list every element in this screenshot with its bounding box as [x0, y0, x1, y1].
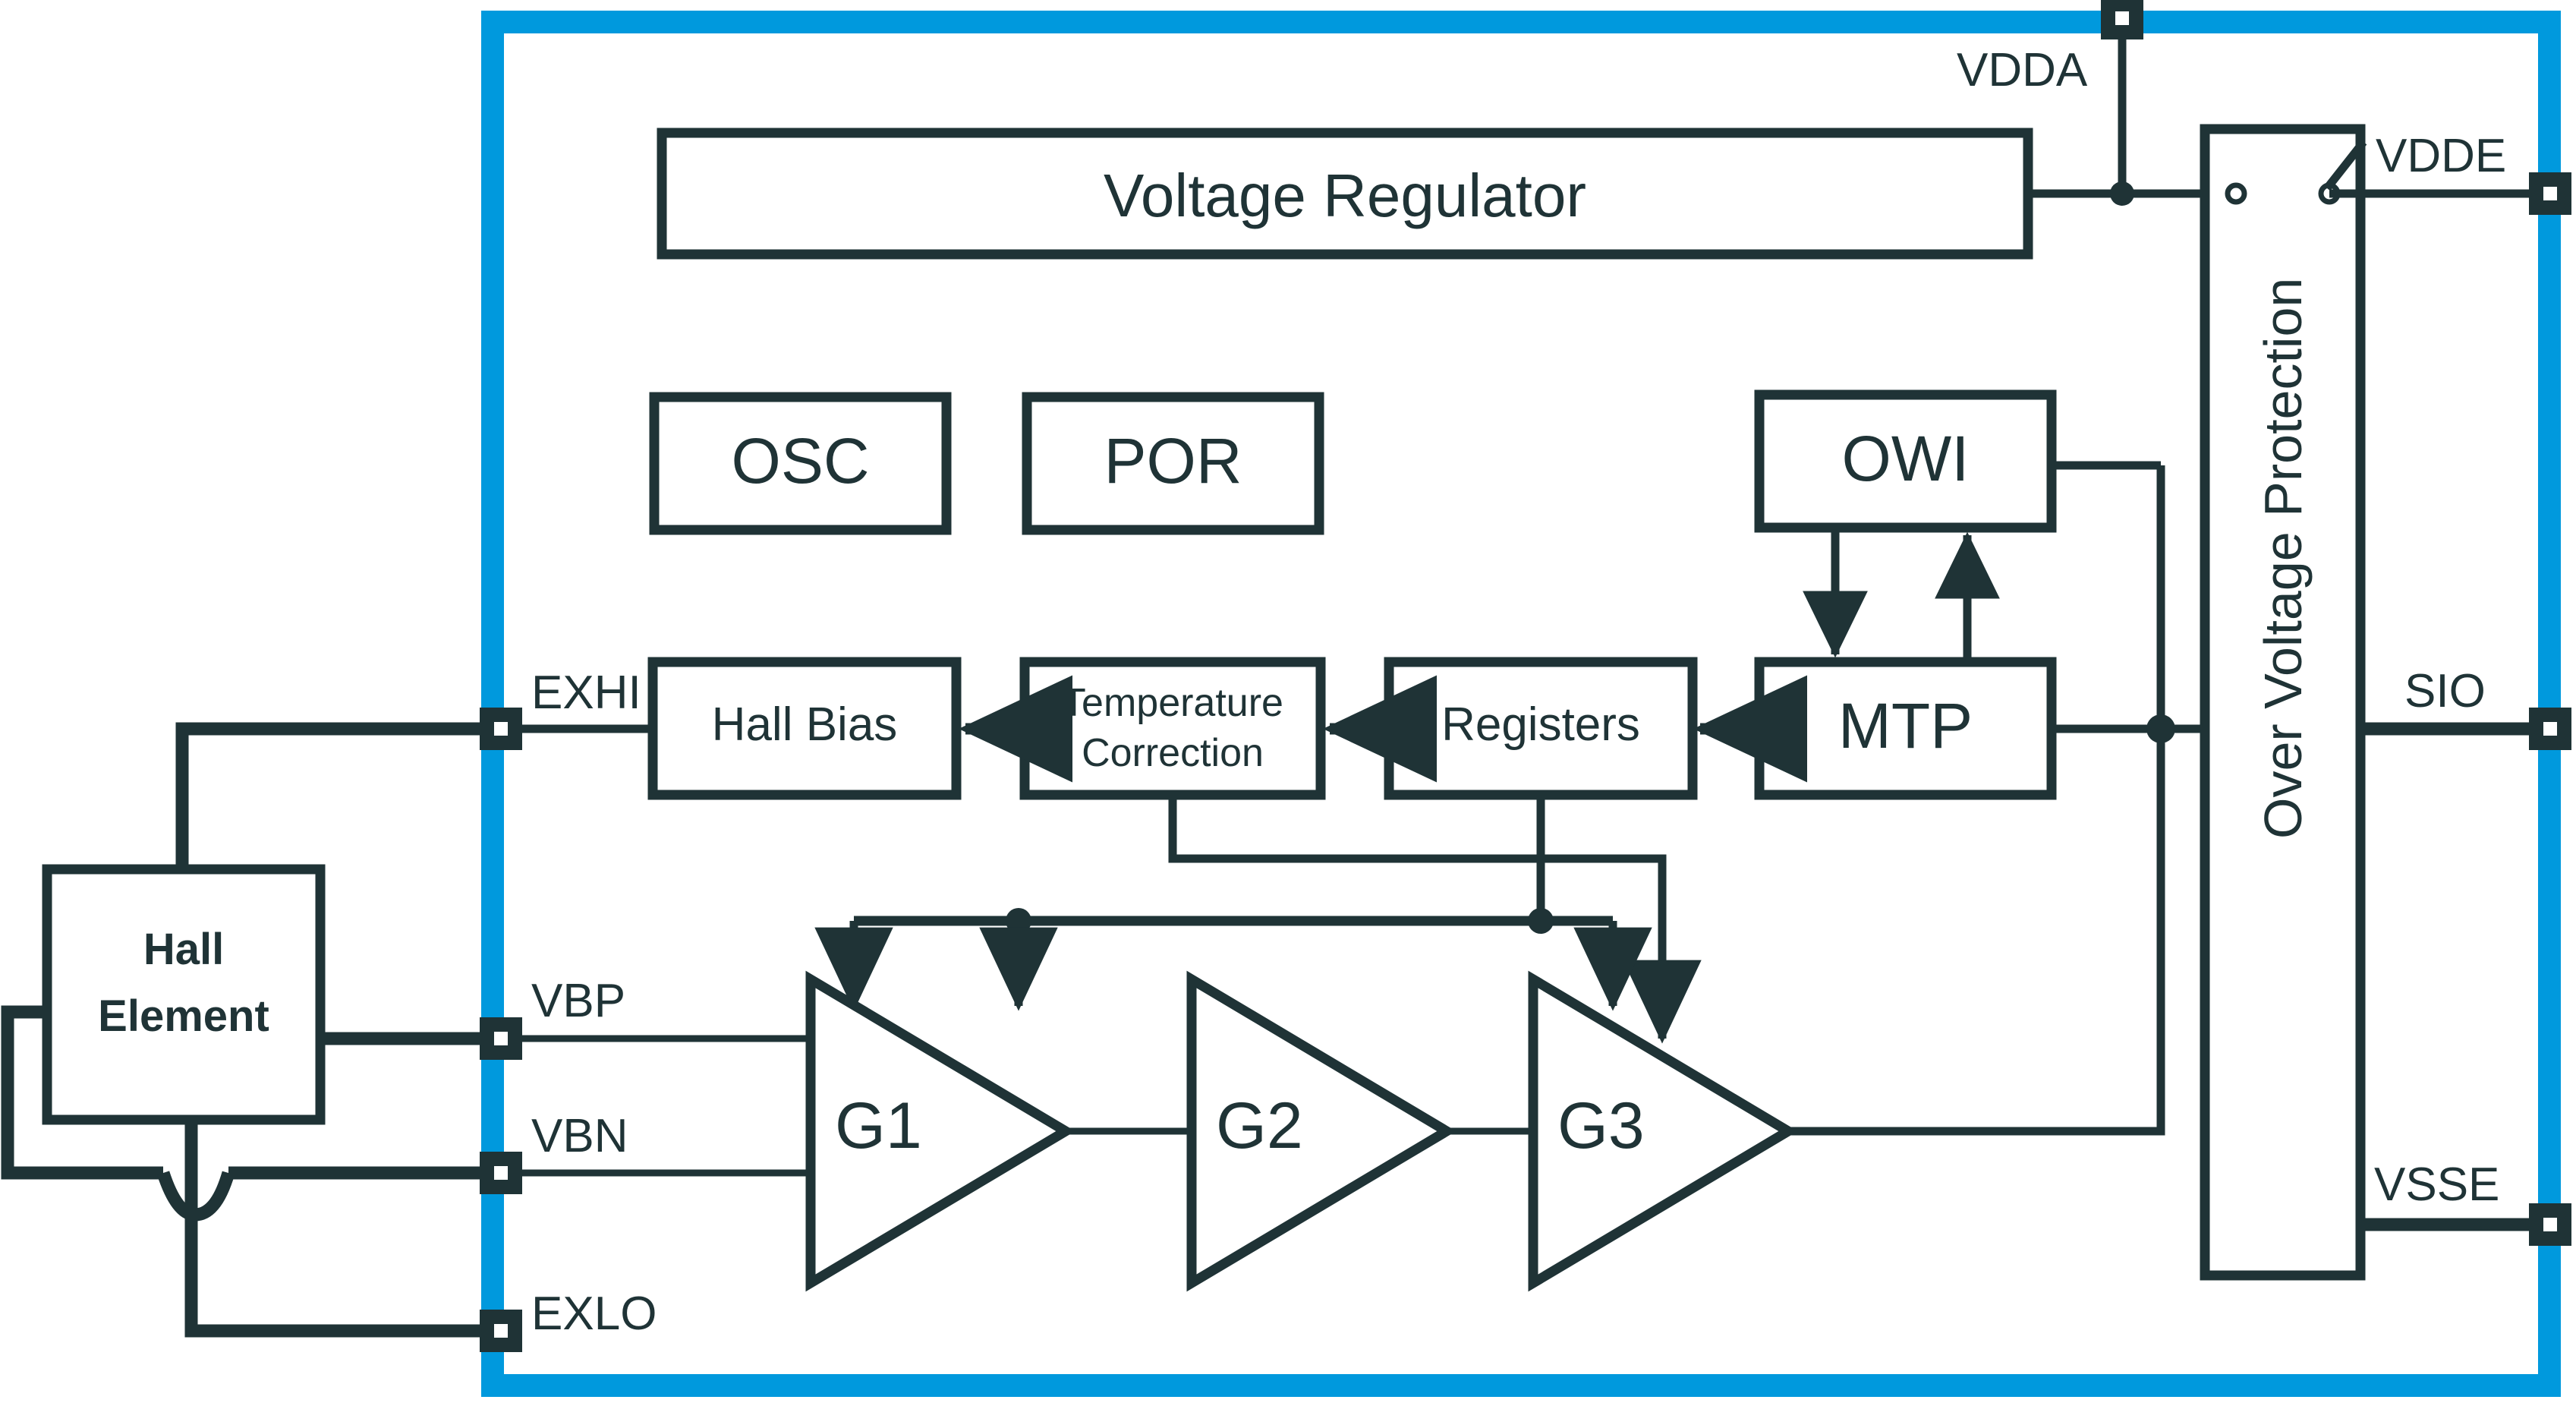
hall-element-label-line2: Element — [47, 995, 320, 1039]
temperature-correction-label-line1: Temperature — [1025, 683, 1321, 723]
junction-dot-g3-tap — [1528, 908, 1554, 934]
mtp-label: MTP — [1759, 694, 2052, 758]
temperature-correction-label-line2: Correction — [1025, 733, 1321, 773]
pin-label-sio: SIO — [2404, 668, 2486, 715]
wire-exhi-to-hall-element — [182, 729, 480, 869]
pad-exlo-hole — [494, 1324, 508, 1338]
pad-vdda-hole — [2115, 11, 2129, 25]
osc-label: OSC — [654, 429, 946, 493]
pad-vbp-hole — [494, 1032, 508, 1045]
pin-label-exhi: EXHI — [531, 670, 641, 717]
pin-label-vdda: VDDA — [1957, 47, 2087, 94]
junction-dot-vdda — [2110, 181, 2134, 206]
g2-label: G2 — [1216, 1093, 1303, 1159]
pin-label-vbp: VBP — [531, 978, 625, 1025]
por-label: POR — [1027, 429, 1319, 493]
voltage-regulator-label: Voltage Regulator — [662, 166, 2028, 226]
pad-vsse-hole — [2543, 1218, 2557, 1231]
wire-tempcorr-to-g3b — [1639, 859, 1662, 1039]
block-diagram-canvas: Voltage Regulator OSC POR OWI MTP Regist… — [0, 0, 2576, 1406]
g1-label: G1 — [835, 1093, 922, 1159]
wire-hall-to-exlo — [191, 1120, 501, 1331]
g3-label: G3 — [1557, 1093, 1645, 1159]
pad-exhi-hole — [494, 722, 508, 736]
pin-label-vbn: VBN — [531, 1113, 628, 1160]
switch-contact-left — [2228, 185, 2244, 202]
pad-sio-hole — [2543, 722, 2557, 736]
hall-element-label-line1: Hall — [47, 928, 320, 972]
owi-label: OWI — [1759, 427, 2052, 490]
wire-tempcorr-control — [1173, 795, 1639, 859]
registers-label: Registers — [1389, 701, 1693, 749]
hall-bias-label: Hall Bias — [653, 701, 956, 749]
pad-vdde-hole — [2543, 187, 2557, 200]
pin-label-vdde: VDDE — [2376, 133, 2506, 180]
over-voltage-protection-label: Over Voltage Protection — [2256, 588, 2310, 839]
pin-label-vsse: VSSE — [2374, 1162, 2499, 1209]
pin-label-exlo: EXLO — [531, 1291, 657, 1338]
pad-vbn-hole — [494, 1166, 508, 1180]
